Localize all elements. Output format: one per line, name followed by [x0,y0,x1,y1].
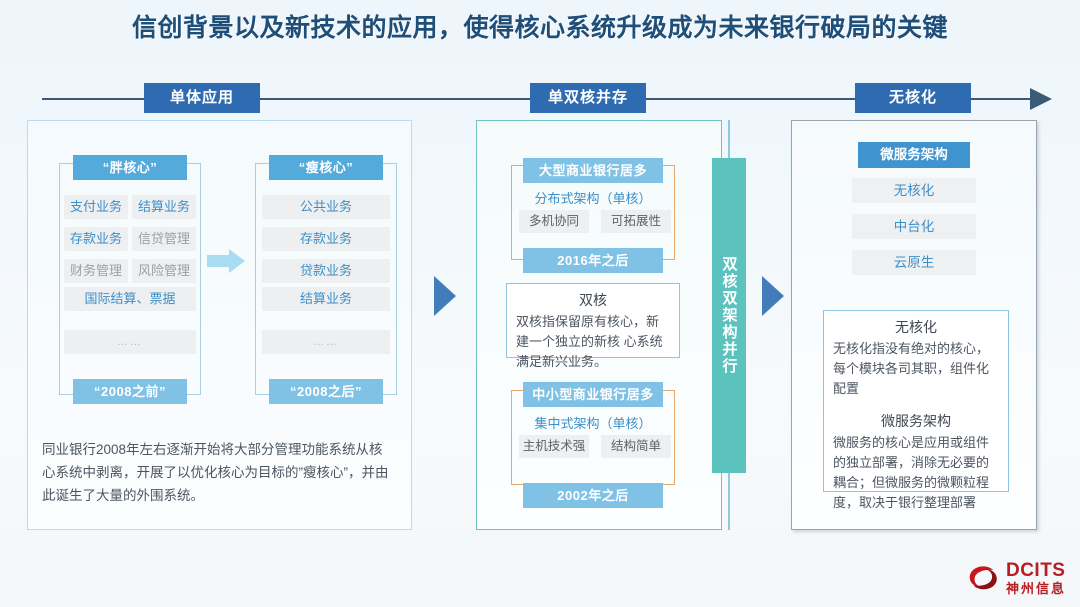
timeline-arrowhead-icon [1030,88,1052,110]
stage-arrow-1-icon [434,276,456,316]
logo-text: DCITS 神州信息 [1006,561,1066,595]
teal-bar-stem-top [728,120,730,160]
large-bank-footer: 2016年之后 [523,248,663,273]
thin-core-cell: 公共业务 [262,195,390,219]
coreless-note-body-1: 无核化指没有绝对的核心，每个模块各司其职，组件化配置 [824,339,1008,399]
timeline-stage-2[interactable]: 单双核并存 [530,83,646,113]
thin-core-cell: 贷款业务 [262,259,390,283]
fat-core-cell: 国际结算、票据 [64,287,196,311]
dual-architecture-bar: 双核双架构并行 [712,158,746,473]
coreless-note-title-1: 无核化 [824,317,1008,337]
coreless-note-body-2: 微服务的核心是应用或组件的独立部署，消除无必要的耦合；但微服务的微颗粒程度，取决… [824,433,1008,513]
thin-core-cell: 存款业务 [262,227,390,251]
fat-core-footer: “2008之前” [73,379,187,404]
fat-core-header: “胖核心” [73,155,187,180]
fat-core-cell: 风险管理 [132,259,196,283]
fat-core-cell: 结算业务 [132,195,196,219]
monolithic-description: 同业银行2008年左右逐渐开始将大部分管理功能系统从核心系统中剥离，开展了以优化… [42,438,390,507]
thin-core-footer: “2008之后” [269,379,383,404]
large-bank-subtitle: 分布式架构（单核） [511,188,675,207]
thin-core-transition-arrow-icon [207,249,245,273]
dual-architecture-bar-label: 双核双架构并行 [712,158,746,473]
thin-core-cell: 结算业务 [262,287,390,311]
small-bank-header: 中小型商业银行居多 [523,382,663,407]
logo-text-en: DCITS [1006,561,1066,580]
page-title: 信创背景以及新技术的应用，使得核心系统升级成为未来银行破局的关键 [0,8,1080,44]
coreless-note-title-2: 微服务架构 [824,411,1008,431]
dual-core-note-title: 双核 [507,290,679,310]
microservice-header[interactable]: 微服务架构 [858,142,970,168]
company-logo: DCITS 神州信息 [966,561,1066,595]
coreless-note: 无核化 无核化指没有绝对的核心，每个模块各司其职，组件化配置 微服务架构 微服务… [823,310,1009,492]
coreless-row: 云原生 [852,250,976,275]
large-bank-tag: 多机协同 [519,210,589,233]
coreless-row: 中台化 [852,214,976,239]
slide-root: 信创背景以及新技术的应用，使得核心系统升级成为未来银行破局的关键 单体应用 单双… [0,0,1080,607]
dual-core-note: 双核 双核指保留原有核心，新建一个独立的新核 心系统满足新兴业务。 [506,283,680,358]
large-bank-header: 大型商业银行居多 [523,158,663,183]
timeline-stage-3[interactable]: 无核化 [855,83,971,113]
small-bank-footer: 2002年之后 [523,483,663,508]
logo-text-cn: 神州信息 [1006,582,1066,595]
fat-core-cell: 财务管理 [64,259,128,283]
small-bank-subtitle: 集中式架构（单核） [511,413,675,432]
large-bank-tag: 可拓展性 [601,210,671,233]
fat-core-cell: …… [64,330,196,354]
dcits-swirl-icon [966,561,1000,595]
dual-core-note-body: 双核指保留原有核心，新建一个独立的新核 心系统满足新兴业务。 [507,312,679,372]
thin-core-cell: …… [262,330,390,354]
thin-core-header: “瘦核心” [269,155,383,180]
timeline-stage-1[interactable]: 单体应用 [144,83,260,113]
fat-core-cell: 存款业务 [64,227,128,251]
timeline: 单体应用 单双核并存 无核化 [0,82,1080,116]
teal-bar-stem-bottom [728,473,730,530]
fat-core-cell: 信贷管理 [132,227,196,251]
coreless-row: 无核化 [852,178,976,203]
stage-arrow-2-icon [762,276,784,316]
small-bank-tag: 结构简单 [601,435,671,458]
small-bank-tag: 主机技术强 [519,435,589,458]
fat-core-cell: 支付业务 [64,195,128,219]
